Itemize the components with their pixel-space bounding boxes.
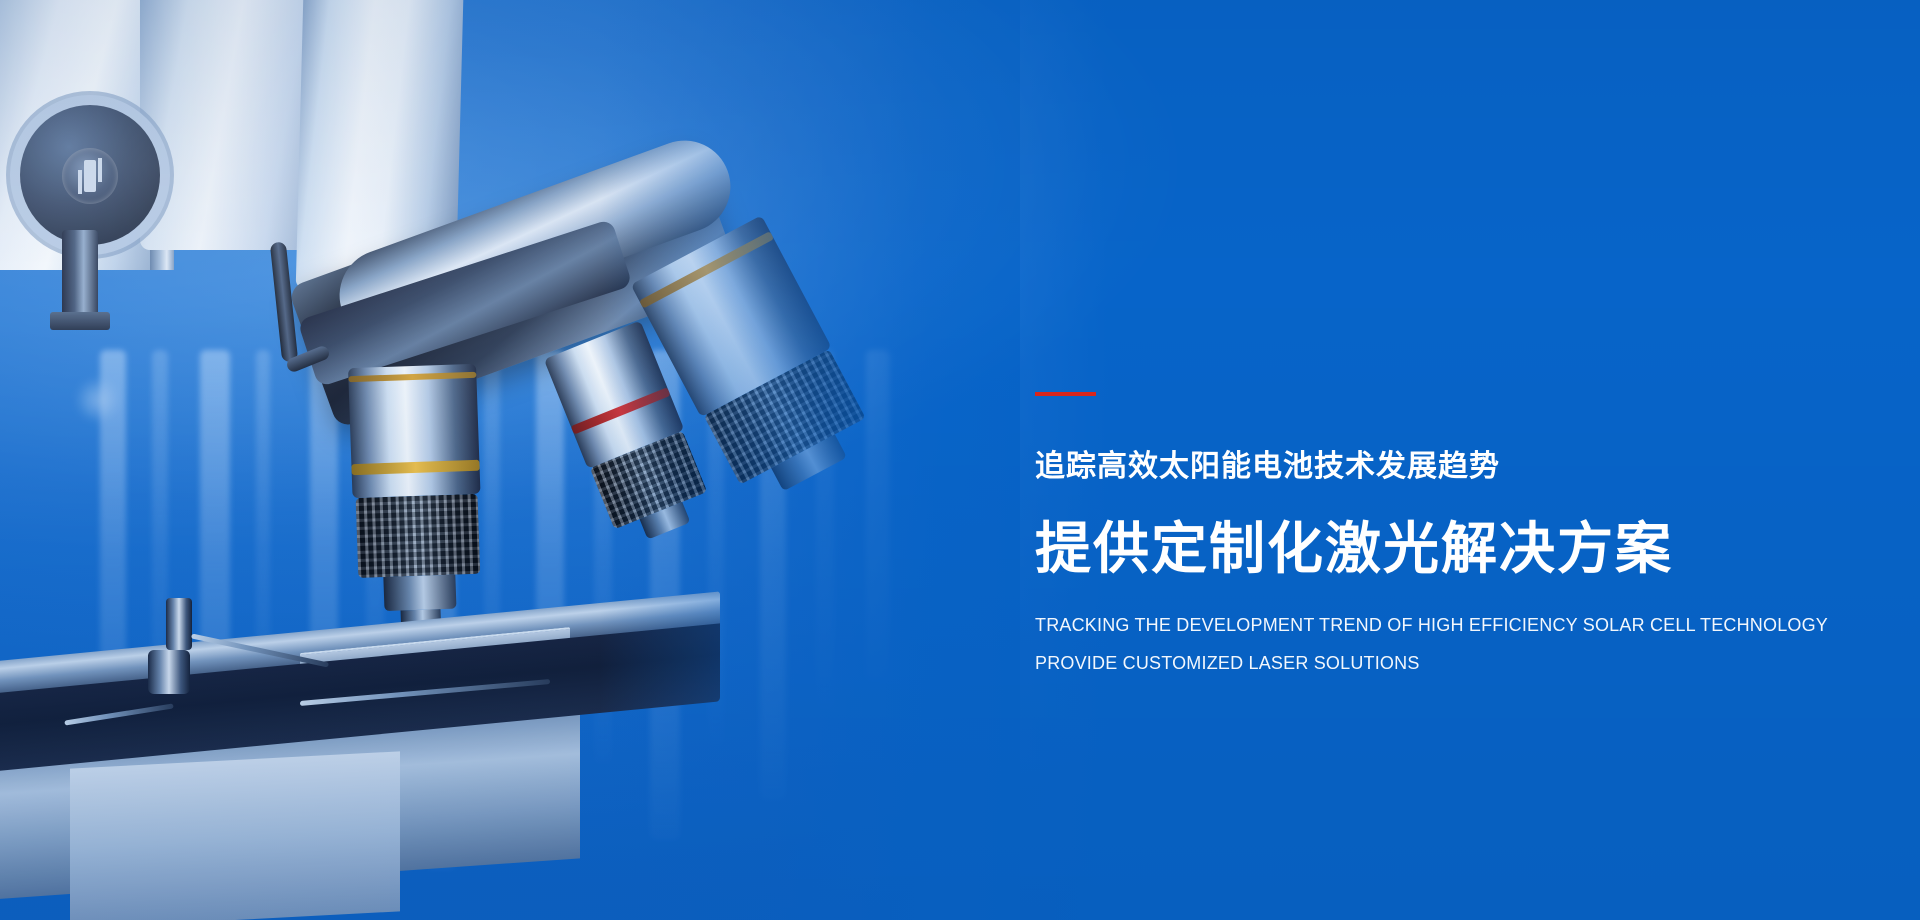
hero-title-cn: 提供定制化激光解决方案 [1035,520,1835,579]
hero-copy: 追踪高效太阳能电池技术发展趋势 提供定制化激光解决方案 TRACKING THE… [1035,392,1835,672]
hero-subtitle-en-line2: PROVIDE CUSTOMIZED LASER SOLUTIONS [1035,654,1835,672]
hero-subtitle-en-line1: TRACKING THE DEVELOPMENT TREND OF HIGH E… [1035,616,1835,634]
hero-subtitle-cn: 追踪高效太阳能电池技术发展趋势 [1035,452,1835,482]
accent-rule [1035,392,1096,396]
hero-banner: 追踪高效太阳能电池技术发展趋势 提供定制化激光解决方案 TRACKING THE… [0,0,1920,920]
